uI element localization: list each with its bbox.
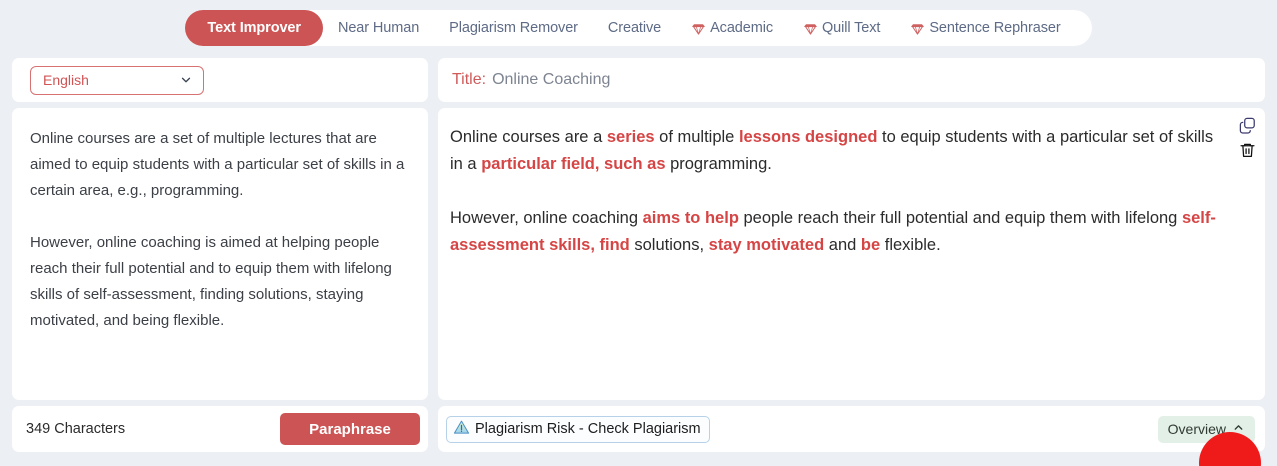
right-column: Title: Online Coaching Online courses ar…	[438, 58, 1265, 452]
title-value[interactable]: Online Coaching	[492, 71, 610, 89]
output-text: and	[824, 236, 861, 254]
highlighted-phrase: stay motivated	[709, 236, 825, 254]
paraphrase-button[interactable]: Paraphrase	[280, 413, 420, 445]
input-paragraph: Online courses are a set of multiple lec…	[30, 126, 410, 204]
tab-label: Near Human	[338, 20, 419, 36]
output-text: people reach their full potential and eq…	[739, 209, 1182, 227]
output-text: solutions,	[630, 236, 709, 254]
output-paragraph: Online courses are a series of multiple …	[450, 124, 1225, 178]
tab-label: Text Improver	[207, 20, 301, 36]
output-text: programming.	[666, 155, 772, 173]
left-column: English Online courses are a set of mult…	[12, 58, 428, 452]
tab-label: Sentence Rephraser	[929, 20, 1060, 36]
tab-near-human[interactable]: Near Human	[323, 10, 434, 46]
tab-plagiarism-remover[interactable]: Plagiarism Remover	[434, 10, 593, 46]
tab-label: Creative	[608, 20, 661, 36]
highlighted-phrase: series	[607, 128, 655, 146]
input-textarea[interactable]: Online courses are a set of multiple lec…	[12, 108, 428, 400]
gem-icon	[910, 21, 925, 36]
language-value: English	[43, 72, 89, 88]
warning-triangle-icon	[453, 419, 470, 440]
output-paragraph: However, online coaching aims to help pe…	[450, 205, 1225, 259]
output-textarea[interactable]: Online courses are a series of multiple …	[438, 108, 1265, 400]
right-footer: Plagiarism Risk - Check Plagiarism Overv…	[438, 406, 1265, 452]
output-text: Online courses are a	[450, 128, 607, 146]
gem-icon	[803, 21, 818, 36]
tab-academic[interactable]: Academic	[676, 10, 788, 46]
title-label: Title:	[452, 71, 486, 89]
chevron-down-icon[interactable]	[179, 73, 193, 87]
tab-creative[interactable]: Creative	[593, 10, 676, 46]
highlighted-phrase: aims to help	[643, 209, 739, 227]
output-text: of multiple	[655, 128, 739, 146]
tab-sentence-rephraser[interactable]: Sentence Rephraser	[895, 10, 1075, 46]
tab-label: Plagiarism Remover	[449, 20, 578, 36]
plagiarism-label: Plagiarism Risk - Check Plagiarism	[475, 421, 701, 437]
tab-text-improver[interactable]: Text Improver	[185, 10, 323, 46]
input-paragraph: However, online coaching is aimed at hel…	[30, 230, 410, 334]
copy-icon[interactable]	[1238, 116, 1257, 135]
tab-quill-text[interactable]: Quill Text	[788, 10, 895, 46]
highlighted-phrase: be	[861, 236, 880, 254]
language-select[interactable]: English	[30, 66, 204, 95]
plagiarism-check-button[interactable]: Plagiarism Risk - Check Plagiarism	[446, 416, 710, 443]
tab-label: Quill Text	[822, 20, 880, 36]
character-count: 349 Characters	[26, 421, 125, 437]
output-actions	[1238, 116, 1257, 159]
title-bar: Title: Online Coaching	[438, 58, 1265, 102]
output-text: flexible.	[880, 236, 941, 254]
highlighted-phrase: particular field, such as	[481, 155, 665, 173]
tab-label: Academic	[710, 20, 773, 36]
top-tabbar: Text ImproverNear HumanPlagiarism Remove…	[0, 0, 1277, 56]
language-bar: English	[12, 58, 428, 102]
gem-icon	[691, 21, 706, 36]
trash-icon[interactable]	[1239, 141, 1256, 159]
highlighted-phrase: lessons designed	[739, 128, 877, 146]
output-text: However, online coaching	[450, 209, 643, 227]
tab-list: Text ImproverNear HumanPlagiarism Remove…	[185, 10, 1091, 46]
left-footer: 349 Characters Paraphrase	[12, 406, 428, 452]
